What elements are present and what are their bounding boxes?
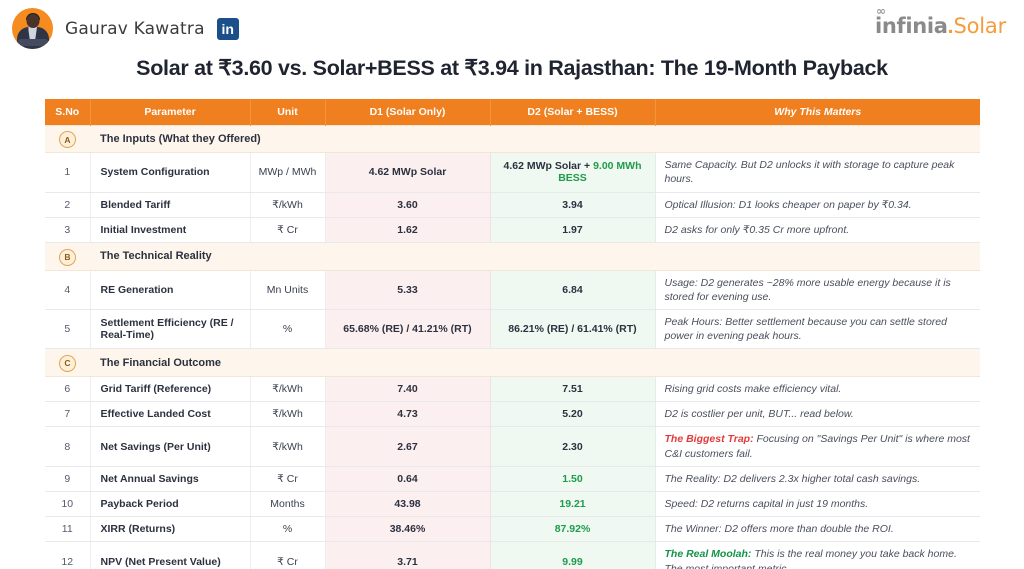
row-d2-pre: 4.62 MWp Solar + — [503, 160, 593, 172]
row-why: The Winner: D2 offers more than double t… — [655, 517, 980, 542]
row-d1: 3.60 — [325, 192, 490, 217]
linkedin-icon[interactable]: in — [217, 18, 239, 40]
table-row: 10 Payback Period Months 43.98 19.21 Spe… — [45, 491, 980, 516]
row-why-lead: The Biggest Trap: — [665, 433, 754, 445]
row-parameter: System Configuration — [90, 153, 250, 192]
row-sno: 3 — [45, 217, 90, 242]
section-badge-c: C — [59, 355, 76, 372]
row-why: Peak Hours: Better settlement because yo… — [655, 310, 980, 349]
table-row: 11 XIRR (Returns) % 38.46% 87.92% The Wi… — [45, 517, 980, 542]
row-d1: 7.40 — [325, 377, 490, 402]
row-why: The Biggest Trap: Focusing on "Savings P… — [655, 427, 980, 466]
row-d2: 6.84 — [490, 270, 655, 309]
row-why: The Real Moolah: This is the real money … — [655, 542, 980, 569]
row-unit: ₹/kWh — [250, 427, 325, 466]
avatar — [12, 8, 53, 49]
row-why: D2 asks for only ₹0.35 Cr more upfront. — [655, 217, 980, 242]
row-unit: ₹/kWh — [250, 402, 325, 427]
comparison-table-wrap: S.No Parameter Unit D1 (Solar Only) D2 (… — [45, 99, 980, 569]
row-sno: 6 — [45, 377, 90, 402]
row-why: Rising grid costs make efficiency vital. — [655, 377, 980, 402]
row-d1: 65.68% (RE) / 41.21% (RT) — [325, 310, 490, 349]
section-title-a: The Inputs (What they Offered) — [90, 125, 980, 153]
row-d1: 4.73 — [325, 402, 490, 427]
row-why: D2 is costlier per unit, BUT... read bel… — [655, 402, 980, 427]
row-unit: ₹ Cr — [250, 466, 325, 491]
section-header-c: C The Financial Outcome — [45, 349, 980, 377]
row-d2: 4.62 MWp Solar + 9.00 MWh BESS — [490, 153, 655, 192]
row-parameter: Settlement Efficiency (RE / Real-Time) — [90, 310, 250, 349]
row-d1: 43.98 — [325, 491, 490, 516]
row-d2: 86.21% (RE) / 61.41% (RT) — [490, 310, 655, 349]
row-parameter: Grid Tariff (Reference) — [90, 377, 250, 402]
section-badge-b: B — [59, 249, 76, 266]
row-d1: 2.67 — [325, 427, 490, 466]
col-header-parameter: Parameter — [90, 99, 250, 125]
row-why: Usage: D2 generates ~28% more usable ene… — [655, 270, 980, 309]
table-row: 1 System Configuration MWp / MWh 4.62 MW… — [45, 153, 980, 192]
row-d2: 87.92% — [490, 517, 655, 542]
row-sno: 10 — [45, 491, 90, 516]
section-badge-a: A — [59, 131, 76, 148]
row-d1: 38.46% — [325, 517, 490, 542]
row-unit: % — [250, 310, 325, 349]
row-d1: 0.64 — [325, 466, 490, 491]
top-bar: Gaurav Kawatra in ∞infinia . Solar — [0, 0, 1024, 50]
page-title: Solar at ₹3.60 vs. Solar+BESS at ₹3.94 i… — [0, 56, 1024, 81]
row-d2: 3.94 — [490, 192, 655, 217]
section-header-a: A The Inputs (What they Offered) — [45, 125, 980, 153]
section-header-b: B The Technical Reality — [45, 242, 980, 270]
row-unit: % — [250, 517, 325, 542]
row-sno: 11 — [45, 517, 90, 542]
col-header-unit: Unit — [250, 99, 325, 125]
row-d2: 1.50 — [490, 466, 655, 491]
col-header-sno: S.No — [45, 99, 90, 125]
row-parameter: Net Annual Savings — [90, 466, 250, 491]
row-why: The Reality: D2 delivers 2.3x higher tot… — [655, 466, 980, 491]
row-d1: 4.62 MWp Solar — [325, 153, 490, 192]
row-d2: 1.97 — [490, 217, 655, 242]
section-badge-cell: A — [45, 125, 90, 153]
row-sno: 5 — [45, 310, 90, 349]
table-row: 3 Initial Investment ₹ Cr 1.62 1.97 D2 a… — [45, 217, 980, 242]
row-d2: 19.21 — [490, 491, 655, 516]
row-sno: 12 — [45, 542, 90, 569]
row-unit: ₹ Cr — [250, 217, 325, 242]
section-title-c: The Financial Outcome — [90, 349, 980, 377]
row-why: Same Capacity. But D2 unlocks it with st… — [655, 153, 980, 192]
brand-suffix: Solar — [953, 14, 1006, 38]
row-parameter: Net Savings (Per Unit) — [90, 427, 250, 466]
table-body: A The Inputs (What they Offered) 1 Syste… — [45, 125, 980, 569]
table-row: 12 NPV (Net Present Value) ₹ Cr 3.71 9.9… — [45, 542, 980, 569]
section-badge-cell: B — [45, 242, 90, 270]
row-unit: Mn Units — [250, 270, 325, 309]
table-row: 4 RE Generation Mn Units 5.33 6.84 Usage… — [45, 270, 980, 309]
row-d1: 3.71 — [325, 542, 490, 569]
brand-word: infinia — [875, 14, 948, 38]
row-parameter: Effective Landed Cost — [90, 402, 250, 427]
infinity-icon: ∞ — [876, 5, 886, 17]
row-why: Optical Illusion: D1 looks cheaper on pa… — [655, 192, 980, 217]
row-parameter: Initial Investment — [90, 217, 250, 242]
section-badge-cell: C — [45, 349, 90, 377]
row-sno: 4 — [45, 270, 90, 309]
row-unit: ₹/kWh — [250, 377, 325, 402]
comparison-table: S.No Parameter Unit D1 (Solar Only) D2 (… — [45, 99, 980, 569]
row-parameter: Payback Period — [90, 491, 250, 516]
author-name: Gaurav Kawatra — [65, 19, 205, 39]
row-why: Speed: D2 returns capital in just 19 mon… — [655, 491, 980, 516]
table-row: 9 Net Annual Savings ₹ Cr 0.64 1.50 The … — [45, 466, 980, 491]
row-parameter: RE Generation — [90, 270, 250, 309]
table-row: 5 Settlement Efficiency (RE / Real-Time)… — [45, 310, 980, 349]
col-header-why: Why This Matters — [655, 99, 980, 125]
table-head: S.No Parameter Unit D1 (Solar Only) D2 (… — [45, 99, 980, 125]
row-unit: MWp / MWh — [250, 153, 325, 192]
table-row: 6 Grid Tariff (Reference) ₹/kWh 7.40 7.5… — [45, 377, 980, 402]
row-parameter: Blended Tariff — [90, 192, 250, 217]
row-d1: 1.62 — [325, 217, 490, 242]
infographic-page: Gaurav Kawatra in ∞infinia . Solar Solar… — [0, 0, 1024, 569]
row-unit: ₹/kWh — [250, 192, 325, 217]
row-parameter: XIRR (Returns) — [90, 517, 250, 542]
row-sno: 7 — [45, 402, 90, 427]
brand-logo: ∞infinia . Solar — [875, 14, 1006, 39]
col-header-d1: D1 (Solar Only) — [325, 99, 490, 125]
author-block: Gaurav Kawatra in — [12, 8, 239, 49]
section-title-b: The Technical Reality — [90, 242, 980, 270]
row-d2: 9.99 — [490, 542, 655, 569]
row-parameter: NPV (Net Present Value) — [90, 542, 250, 569]
row-d2: 2.30 — [490, 427, 655, 466]
row-d2: 5.20 — [490, 402, 655, 427]
table-row: 2 Blended Tariff ₹/kWh 3.60 3.94 Optical… — [45, 192, 980, 217]
row-sno: 9 — [45, 466, 90, 491]
table-row: 7 Effective Landed Cost ₹/kWh 4.73 5.20 … — [45, 402, 980, 427]
row-d2: 7.51 — [490, 377, 655, 402]
table-row: 8 Net Savings (Per Unit) ₹/kWh 2.67 2.30… — [45, 427, 980, 466]
row-d1: 5.33 — [325, 270, 490, 309]
col-header-d2: D2 (Solar + BESS) — [490, 99, 655, 125]
row-sno: 1 — [45, 153, 90, 192]
brand-name: ∞infinia — [875, 14, 948, 38]
row-why-lead: The Real Moolah: — [665, 548, 752, 560]
row-sno: 8 — [45, 427, 90, 466]
row-unit: Months — [250, 491, 325, 516]
row-sno: 2 — [45, 192, 90, 217]
row-unit: ₹ Cr — [250, 542, 325, 569]
header-row: S.No Parameter Unit D1 (Solar Only) D2 (… — [45, 99, 980, 125]
